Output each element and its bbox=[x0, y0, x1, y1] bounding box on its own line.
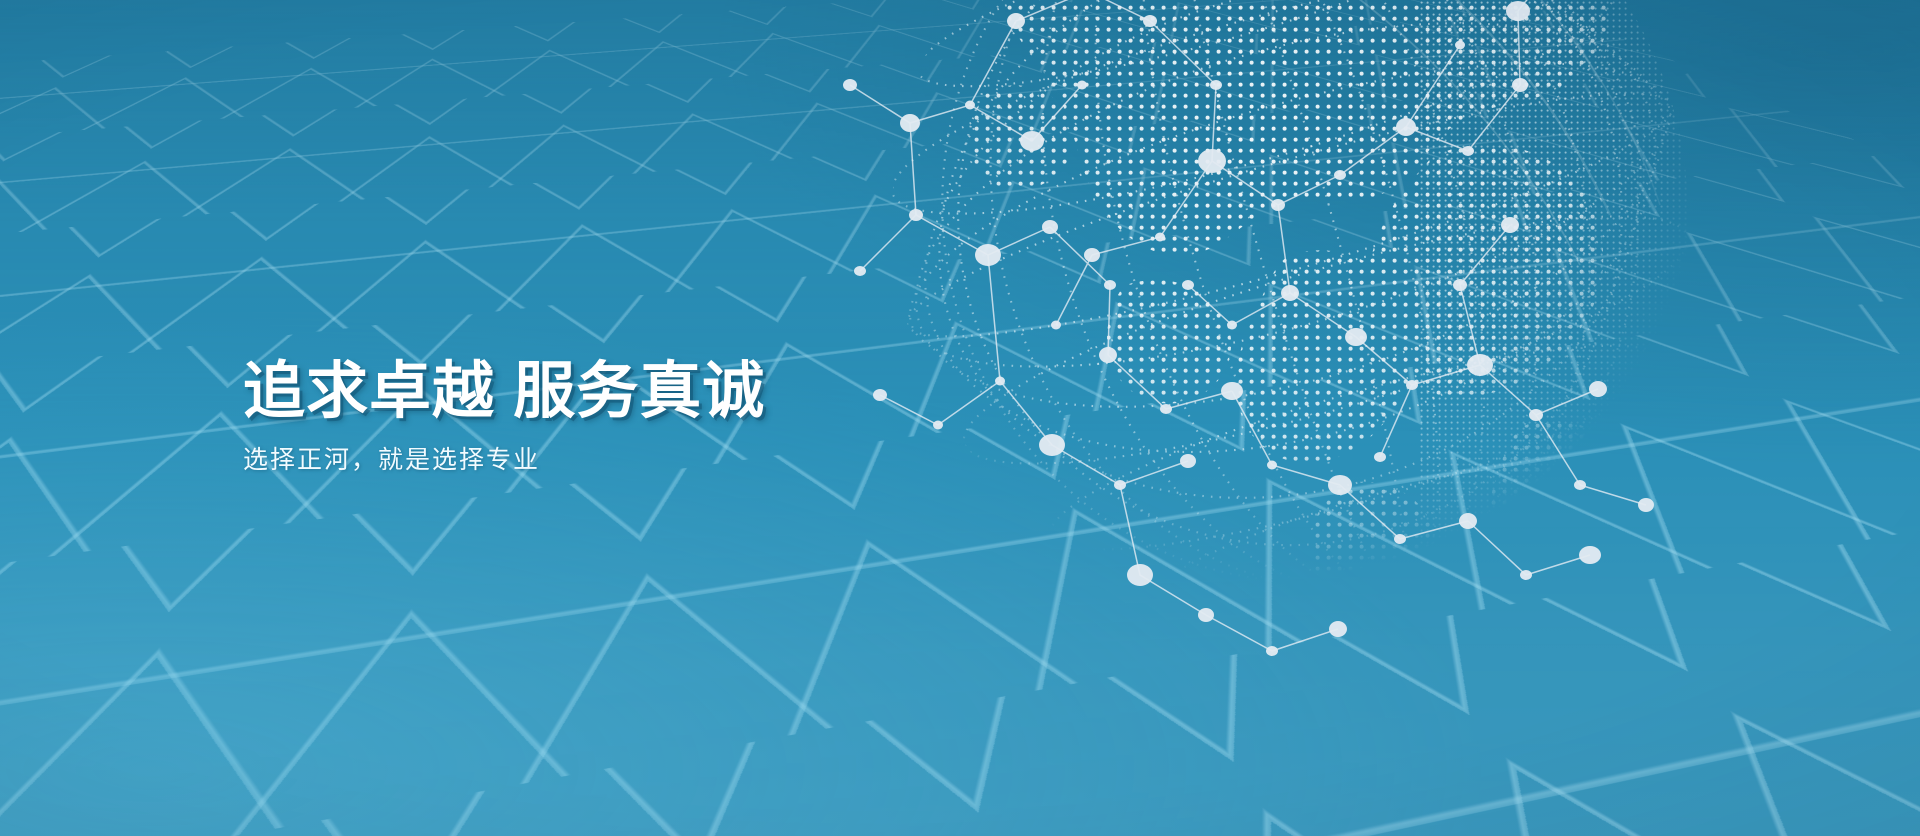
hero-text-block: 追求卓越 服务真诚 选择正河，就是选择专业 bbox=[243, 360, 1003, 475]
hero-banner: 追求卓越 服务真诚 选择正河，就是选择专业 bbox=[0, 0, 1920, 836]
page-title: 追求卓越 服务真诚 bbox=[243, 360, 1003, 423]
page-subtitle: 选择正河，就是选择专业 bbox=[243, 445, 1003, 475]
